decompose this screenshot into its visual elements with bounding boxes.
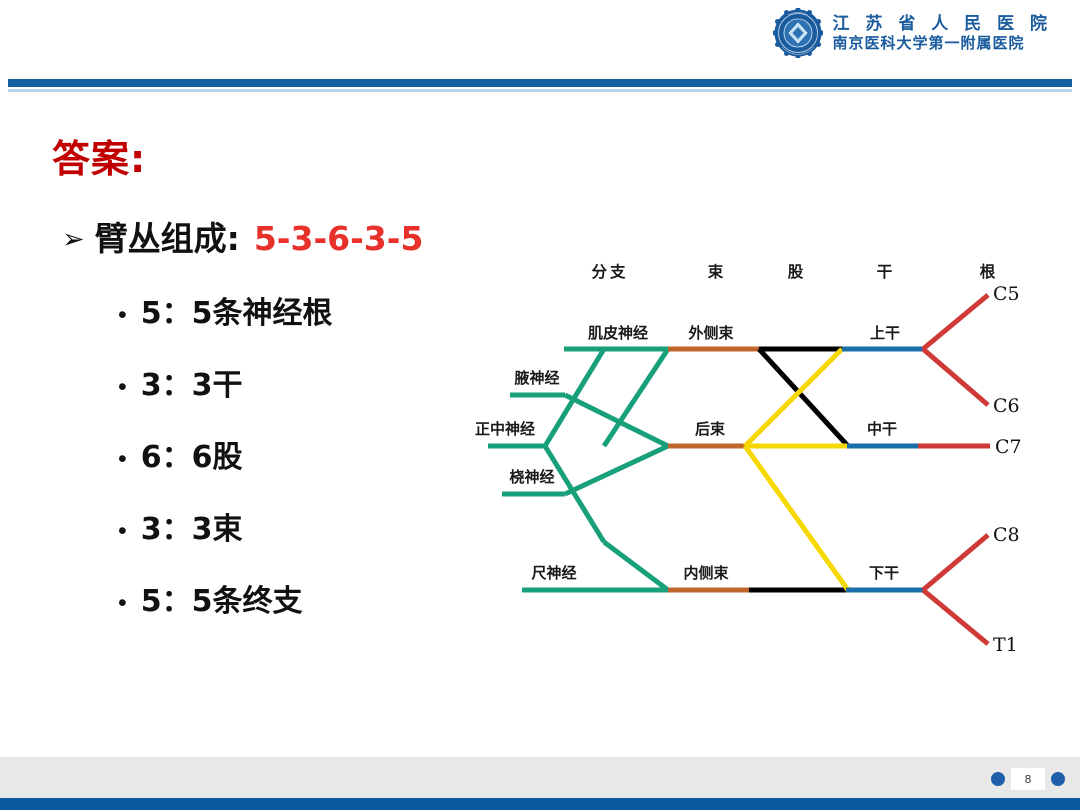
list-item-label: 3：3干 — [141, 360, 243, 404]
label-root-c7: C7 — [995, 436, 1022, 458]
diagram-header-branches: 分支 — [591, 262, 628, 281]
division-yellow-up-diag — [745, 349, 842, 446]
page-number: 8 — [1011, 768, 1045, 790]
list-item-label: 6：6股 — [141, 432, 243, 476]
label-axillary: 腋神经 — [514, 369, 559, 387]
diagram-header-divisions: 股 — [788, 263, 807, 281]
cord-lines-group — [668, 349, 759, 590]
list-item-label: 3：3束 — [141, 504, 243, 548]
arrow-bullet-icon: ➢ — [62, 226, 85, 253]
slide-root: 江 苏 省 人 民 医 院 南京医科大学第一附属医院 答案: ➢ 臂丛组成: 5… — [0, 0, 1080, 810]
footer-bar — [0, 798, 1080, 810]
label-ulnar: 尺神经 — [531, 564, 576, 582]
header-divider-thin — [8, 89, 1072, 92]
page-title: 答案: — [52, 128, 146, 183]
label-median: 正中神经 — [475, 420, 535, 438]
hospital-name-line2: 南京医科大学第一附属医院 — [832, 35, 1052, 51]
label-upper-trunk: 上干 — [870, 324, 900, 342]
nav-dot-prev-icon[interactable] — [991, 772, 1005, 786]
label-root-c5: C5 — [993, 283, 1020, 305]
dot-bullet-icon: • — [118, 375, 127, 400]
dot-bullet-icon: • — [118, 303, 127, 328]
list-item: • 3：3束 — [118, 504, 478, 576]
slide-header: 江 苏 省 人 民 医 院 南京医科大学第一附属医院 — [0, 0, 1080, 80]
root-line-c6 — [923, 349, 988, 405]
label-root-c6: C6 — [993, 395, 1020, 417]
list-item: • 5：5条神经根 — [118, 288, 478, 360]
branch-line-axillary-diag — [565, 395, 668, 446]
label-middle-trunk: 中干 — [867, 420, 897, 438]
dot-bullet-icon: • — [118, 591, 127, 616]
dot-bullet-icon: • — [118, 447, 127, 472]
label-posterior-cord: 后束 — [695, 420, 726, 438]
hospital-seal-icon — [773, 8, 823, 58]
diagram-header-roots: 根 — [980, 262, 999, 281]
root-line-c8 — [923, 535, 988, 590]
brachial-plexus-diagram: 分支 束 股 干 根 — [452, 252, 1058, 688]
header-divider-thick — [8, 79, 1072, 87]
diagram-header-cords: 束 — [708, 262, 727, 281]
label-lateral-cord: 外侧束 — [687, 324, 734, 342]
label-root-t1: T1 — [993, 634, 1018, 656]
list-item: • 3：3干 — [118, 360, 478, 432]
list-item-label: 5：5条神经根 — [141, 288, 333, 332]
division-yellow-group — [745, 349, 848, 590]
branch-line-ulnar-diag — [604, 542, 668, 590]
list-item: • 6：6股 — [118, 432, 478, 504]
branch-line-radial-diag — [565, 446, 668, 494]
root-lines-group — [918, 295, 990, 644]
label-lower-trunk: 下干 — [869, 564, 899, 582]
label-medial-cord: 内侧束 — [683, 564, 729, 582]
division-yellow-down-diag — [745, 446, 848, 590]
footer-band — [0, 757, 1080, 801]
label-root-c8: C8 — [993, 524, 1020, 546]
composition-row: ➢ 臂丛组成: 5-3-6-3-5 — [62, 212, 423, 260]
hospital-name: 江 苏 省 人 民 医 院 南京医科大学第一附属医院 — [832, 15, 1052, 52]
composition-value: 5-3-6-3-5 — [254, 219, 424, 258]
nav-dot-next-icon[interactable] — [1051, 772, 1065, 786]
trunk-lines-group — [842, 349, 923, 590]
root-line-t1 — [923, 590, 988, 644]
diagram-header-trunks: 干 — [877, 263, 896, 281]
list-item-label: 5：5条终支 — [141, 576, 303, 620]
label-musculocutaneous: 肌皮神经 — [588, 324, 648, 342]
root-line-c5 — [923, 295, 988, 349]
label-radial: 桡神经 — [509, 468, 554, 486]
list-item: • 5：5条终支 — [118, 576, 478, 648]
hospital-name-line1: 江 苏 省 人 民 医 院 — [832, 15, 1052, 33]
composition-label: 臂丛组成: — [95, 212, 240, 260]
composition-bullet-list: • 5：5条神经根 • 3：3干 • 6：6股 • 3：3束 • 5：5条终支 — [118, 288, 478, 648]
division-black-diag — [759, 349, 848, 446]
hospital-logo: 江 苏 省 人 民 医 院 南京医科大学第一附属医院 — [773, 8, 1052, 58]
dot-bullet-icon: • — [118, 519, 127, 544]
